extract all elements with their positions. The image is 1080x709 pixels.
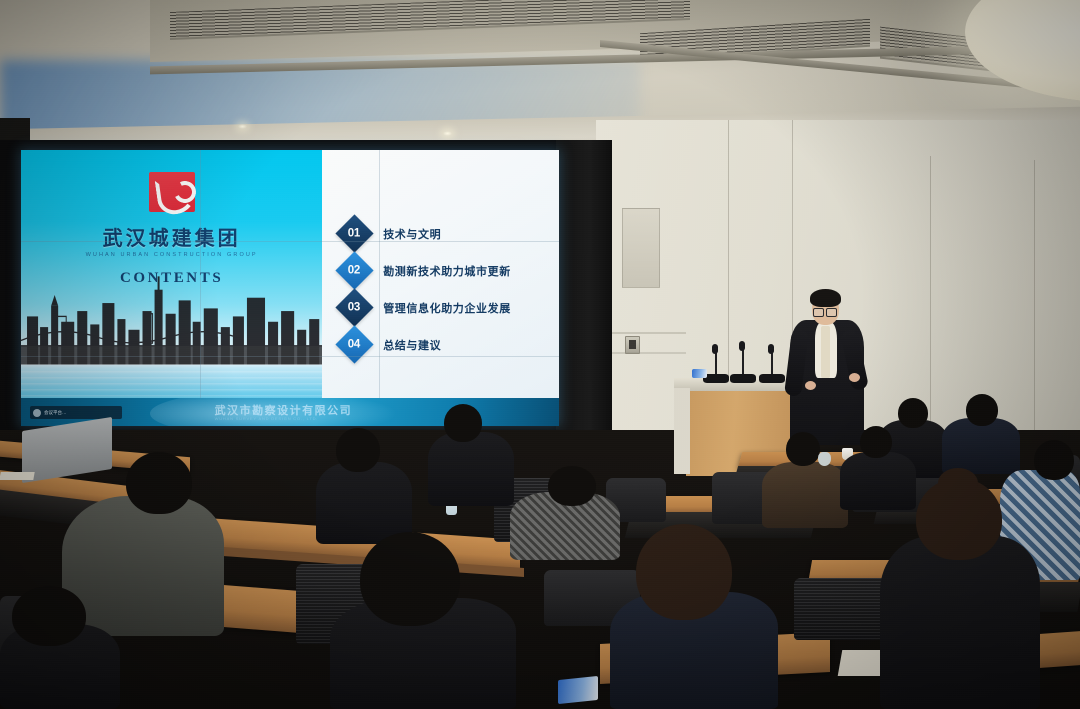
diamond-marker-icon: 01 [336,215,374,253]
contents-label: 勘测新技术助力城市更新 [383,263,511,279]
contents-label: 管理信息化助力企业发展 [383,300,511,316]
presenter-right-hand [849,373,860,382]
contents-item-01[interactable]: 01 技术与文明 [341,219,549,249]
presenter-tie [821,326,830,378]
conference-room-photo: 武汉城建集团 WUHAN URBAN CONSTRUCTION GROUP CO… [0,0,1080,709]
presenter-left-hand [805,381,816,390]
slide-artwork-panel: 武汉城建集团 WUHAN URBAN CONSTRUCTION GROUP CO… [21,150,322,425]
footer-company-en: WUHAN SURVEY AND DESIGN CO., LTD. [215,416,319,421]
company-name-en: WUHAN URBAN CONSTRUCTION GROUP [21,252,322,258]
eyeglasses-on-table [0,472,35,480]
hair-bun [938,468,978,498]
presentation-screen[interactable]: 武汉城建集团 WUHAN URBAN CONSTRUCTION GROUP CO… [21,150,559,425]
eyeglasses-icon [813,308,837,315]
contents-item-02[interactable]: 02 勘测新技术助力城市更新 [341,256,549,286]
table-package [558,676,598,704]
contents-item-03[interactable]: 03 管理信息化助力企业发展 [341,293,549,323]
contents-label: 总结与建议 [383,337,441,353]
face-mask [818,452,831,466]
microphone-base [759,374,785,383]
contents-number: 04 [349,339,361,351]
presenter-hair [810,289,841,307]
wall-plaque [622,208,660,288]
company-logo-icon [149,172,195,212]
downlight-icon [443,131,452,136]
app-icon [33,409,41,417]
taskbar-app-label: 会议平台… [44,410,67,416]
contents-number: 02 [349,265,361,277]
contents-item-04[interactable]: 04 总结与建议 [341,330,549,360]
slide-contents: 武汉城建集团 WUHAN URBAN CONSTRUCTION GROUP CO… [21,150,559,425]
contents-label: 技术与文明 [383,226,441,242]
company-logo-block: 武汉城建集团 WUHAN URBAN CONSTRUCTION GROUP CO… [21,172,322,287]
city-skyline-artwork [21,271,322,365]
downlight-icon [238,124,247,129]
microphone-head-icon [768,344,774,354]
video-wall-seam [379,150,380,425]
diamond-marker-icon: 02 [336,252,374,290]
microphone-base [730,374,756,383]
diamond-marker-icon: 04 [336,326,374,364]
video-wall-seam [21,356,559,357]
video-wall-bezel-right [556,140,612,445]
video-wall-seam [21,241,559,242]
diamond-marker-icon: 03 [336,289,374,327]
company-name-cn: 武汉城建集团 [21,222,322,251]
video-wall-seam [200,150,201,425]
contents-number: 01 [349,228,361,240]
slide-contents-panel: 01 技术与文明 02 勘测新技术助力城市更新 03 [322,150,559,425]
microphone-head-icon [739,341,745,351]
oval-ceiling-light [965,0,1080,102]
desk-item [692,369,707,378]
lectern-side [674,388,690,474]
contents-number: 03 [349,302,361,314]
microphone-head-icon [712,344,718,354]
